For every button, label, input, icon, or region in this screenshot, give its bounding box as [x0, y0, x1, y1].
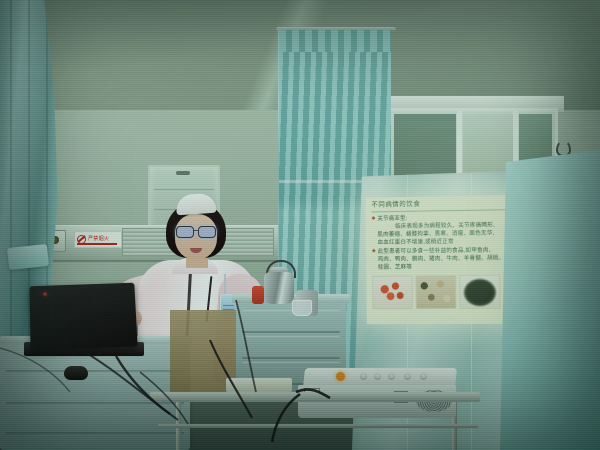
ward-lecture-photo: 严禁烟火 不同病情的饮食 ◆ 关节痛亚型: 临床表现多为病程较久、关节疼痛畸形,…: [0, 0, 600, 450]
sensor-noise-overlay: [0, 0, 600, 450]
